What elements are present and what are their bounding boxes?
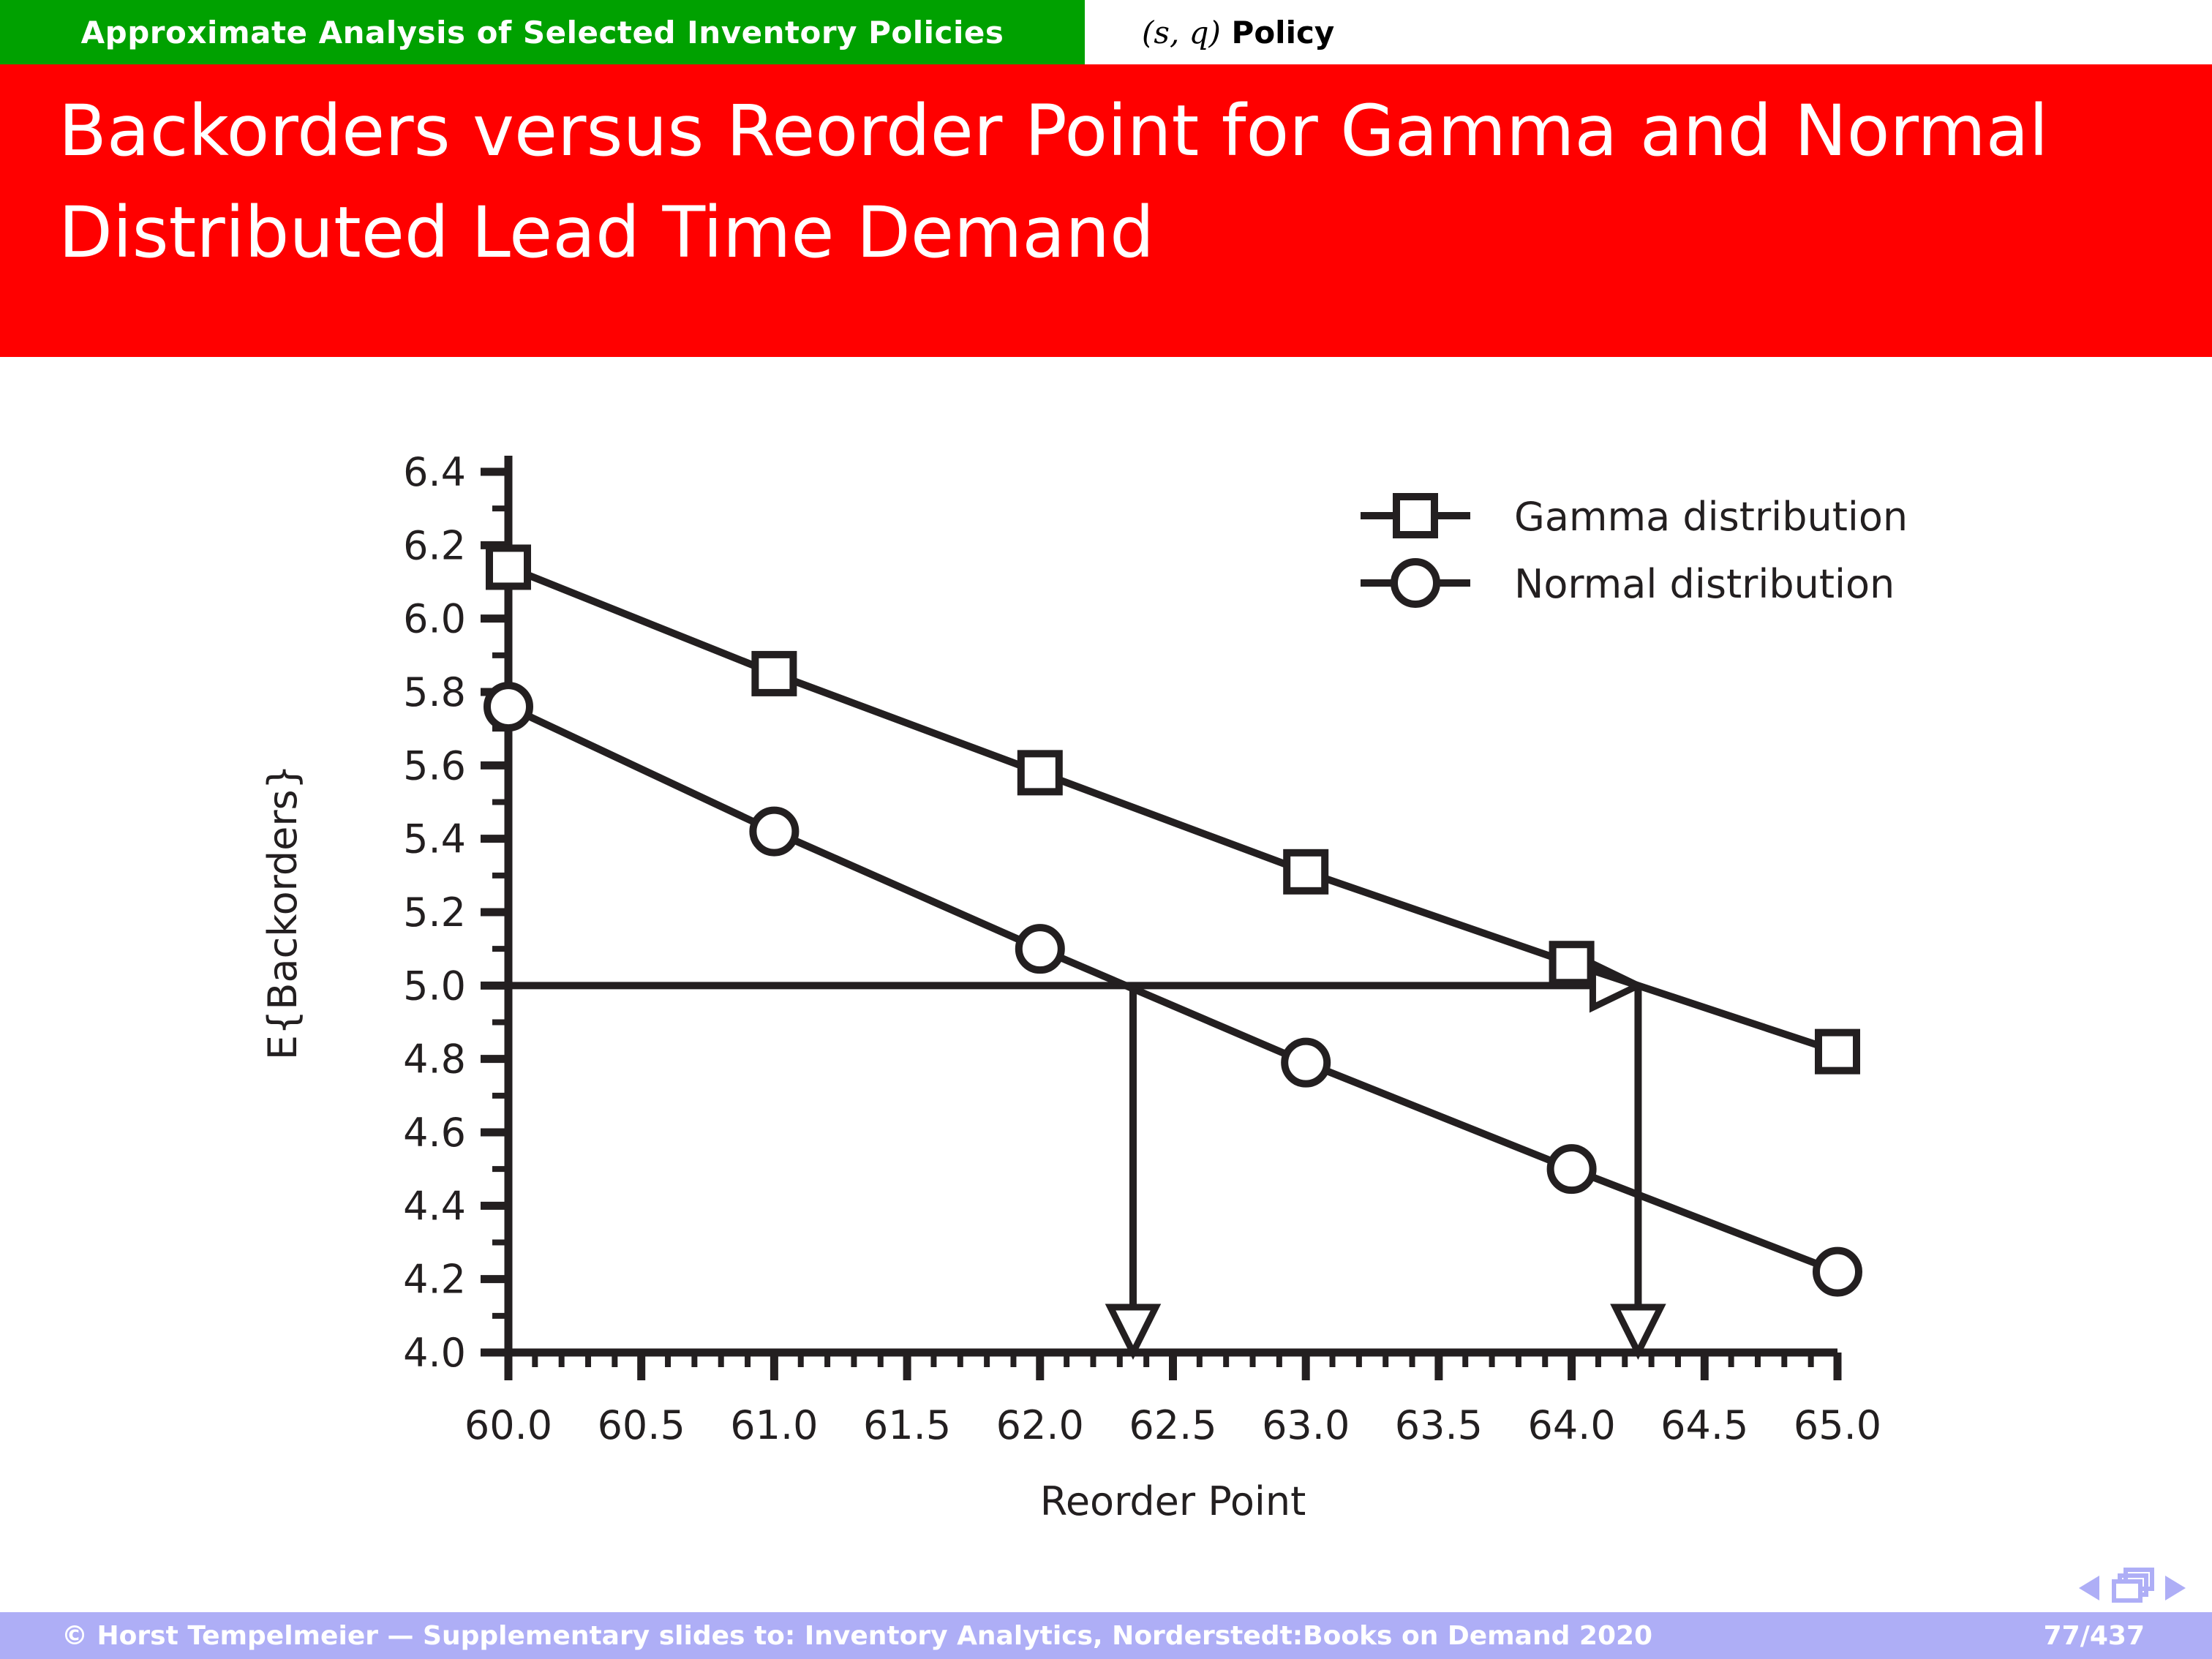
data-point-marker-square [489,548,527,586]
y-axis-tick-label: 6.2 [403,522,466,568]
page-title-line-2: Distributed Lead Time Demand [59,182,2165,284]
y-axis-tick-label: 5.2 [403,889,466,936]
header-subsection-label: (s, q) Policy [1142,15,1334,50]
nav-icons [2070,1565,2194,1611]
x-axis-tick-label: 61.0 [730,1402,818,1448]
x-axis-tick-label: 64.5 [1660,1402,1748,1448]
y-axis-tick-label: 4.4 [403,1183,466,1229]
data-point-marker-circle [1019,928,1061,970]
y-axis-tick-label: 4.8 [403,1037,466,1083]
x-axis-tick-label: 65.0 [1794,1402,1881,1448]
y-axis-tick-label: 5.6 [403,742,466,789]
x-axis-tick-label: 63.5 [1395,1402,1483,1448]
drop-arrow-gamma-head [1615,1307,1660,1353]
data-point-marker-circle [1816,1251,1859,1293]
data-point-marker-circle [487,685,530,728]
header-section-label: Approximate Analysis of Selected Invento… [81,15,1004,50]
page-title-line-1: Backorders versus Reorder Point for Gamm… [59,80,2165,182]
header-subsection-rest: Policy [1221,15,1334,50]
legend-marker-circle [1394,562,1437,604]
y-axis-tick-label: 4.2 [403,1257,466,1303]
page-title: Backorders versus Reorder Point for Gamm… [59,80,2165,284]
x-axis-title: Reorder Point [1040,1478,1306,1524]
footer-bar: © Horst Tempelmeier — Supplementary slid… [0,1612,2212,1659]
y-axis-tick-label: 5.0 [403,963,466,1009]
slide-overview-icon[interactable] [2114,1570,2152,1600]
x-axis-tick-label: 64.0 [1527,1402,1615,1448]
next-slide-icon[interactable] [2165,1576,2186,1600]
footer-page-number: 77/437 [2044,1621,2145,1651]
data-point-marker-circle [1551,1148,1593,1190]
header-section-tab[interactable]: Approximate Analysis of Selected Invento… [0,0,1085,64]
y-axis-tick-label: 6.0 [403,596,466,642]
legend-marker-square [1396,497,1434,535]
y-axis-tick-label: 4.6 [403,1110,466,1156]
y-axis-title: E{Backorders} [260,764,306,1060]
drop-arrow-normal-head [1110,1307,1156,1353]
x-axis-tick-label: 60.0 [464,1402,552,1448]
chart-figure: 60.060.561.061.562.062.563.063.564.064.5… [0,380,2212,1536]
x-axis-tick-label: 60.5 [598,1402,685,1448]
header-subsection-math: (s, q) [1142,15,1221,50]
y-axis-tick-label: 4.0 [403,1330,466,1376]
backorders-vs-reorder-point-chart: 60.060.561.061.562.062.563.063.564.064.5… [0,380,2212,1536]
y-axis-tick-label: 5.8 [403,669,466,715]
x-axis-tick-label: 61.5 [863,1402,951,1448]
data-point-marker-circle [1284,1042,1327,1084]
data-point-marker-square [755,655,793,693]
data-point-marker-square [1021,753,1059,791]
header-subsection-tab[interactable]: (s, q) Policy [1085,0,2212,64]
x-axis-tick-label: 62.0 [996,1402,1084,1448]
y-axis-tick-label: 6.4 [403,449,466,495]
legend-label-gamma: Gamma distribution [1514,494,1908,540]
data-point-marker-square [1287,853,1325,891]
data-point-marker-square [1818,1033,1856,1071]
y-axis-tick-label: 5.4 [403,816,466,862]
prev-slide-icon[interactable] [2079,1576,2099,1600]
header-bar: Approximate Analysis of Selected Invento… [0,0,2212,64]
x-axis-tick-label: 63.0 [1262,1402,1350,1448]
data-point-marker-square [1553,944,1591,982]
legend-label-normal: Normal distribution [1514,561,1895,607]
footer-copyright: © Horst Tempelmeier — Supplementary slid… [0,1621,1652,1651]
series-line-gamma [508,567,1837,1051]
x-axis-tick-label: 62.5 [1129,1402,1216,1448]
data-point-marker-circle [753,810,795,853]
slide-title-band: Backorders versus Reorder Point for Gamm… [0,64,2212,357]
